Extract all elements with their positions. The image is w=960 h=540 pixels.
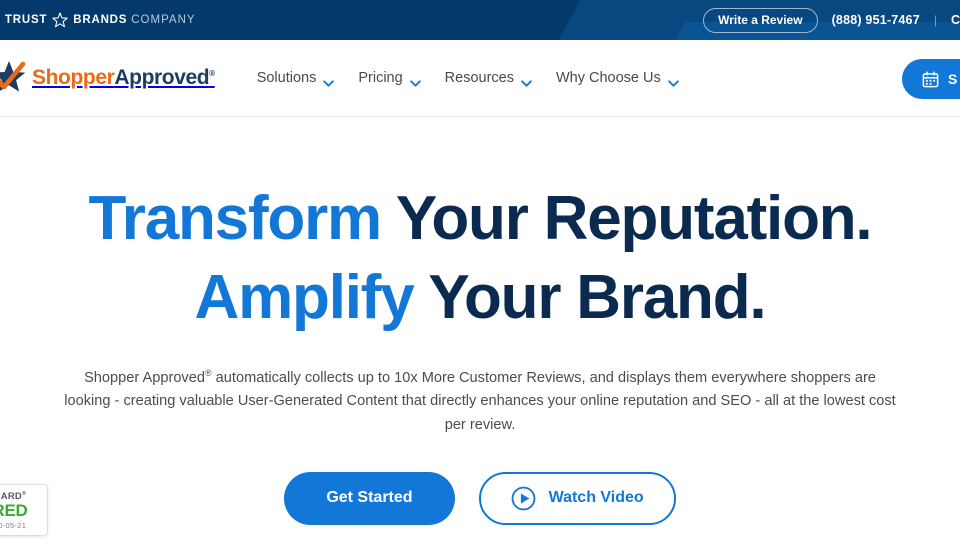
trustbrands-company: COMPANY: [131, 14, 195, 26]
topbar-clipped-item[interactable]: C: [951, 13, 960, 27]
nav-item-label: Pricing: [358, 70, 402, 86]
schedule-demo-label: S: [948, 71, 957, 87]
write-a-review-button[interactable]: Write a Review: [703, 8, 817, 33]
topbar-actions: Write a Review (888) 951-7467 | C: [703, 8, 960, 33]
star-icon: [52, 12, 68, 28]
site-logo[interactable]: ShopperApproved®: [0, 60, 215, 96]
nav-item-pricing[interactable]: Pricing: [358, 70, 420, 86]
logo-registered-mark: ®: [209, 69, 215, 78]
schedule-demo-button[interactable]: S: [902, 59, 960, 99]
trustbrands-a: A: [0, 14, 1, 26]
trustbrands-brands: BRANDS: [73, 14, 127, 26]
headline-line-2: Amplify Your Brand.: [0, 258, 960, 337]
trust-seal-main-text: RED: [0, 502, 28, 520]
logo-wordmark: ShopperApproved®: [32, 66, 215, 90]
nav-item-why-choose-us[interactable]: Why Choose Us: [556, 70, 679, 86]
play-circle-icon: [511, 486, 536, 511]
nav-item-label: Solutions: [257, 70, 317, 86]
hero-paragraph: Shopper Approved® automatically collects…: [62, 366, 898, 438]
calendar-icon: [922, 71, 939, 88]
registered-mark: ®: [205, 368, 212, 378]
top-utility-bar: A TRUST BRANDS COMPANY Write a Review (8…: [0, 0, 960, 40]
page-title: Transform Your Reputation. Amplify Your …: [0, 179, 960, 338]
chevron-down-icon: [410, 75, 421, 82]
topbar-divider: |: [934, 13, 937, 27]
logo-word-approved: Approved: [114, 66, 209, 89]
star-check-icon: [0, 60, 30, 96]
headline-accent-1: Transform: [89, 184, 381, 253]
hero-paragraph-part1: Shopper Approved: [84, 370, 205, 386]
primary-nav: Solutions Pricing Resources: [257, 70, 679, 86]
nav-item-solutions[interactable]: Solutions: [257, 70, 335, 86]
trust-seal-registered-mark: ®: [22, 491, 26, 497]
hero-cta-row: Get Started Watch Video: [0, 472, 960, 525]
hero-section: Transform Your Reputation. Amplify Your …: [0, 117, 960, 540]
nav-item-resources[interactable]: Resources: [445, 70, 532, 86]
get-started-button[interactable]: Get Started: [284, 472, 454, 525]
main-navigation-bar: ShopperApproved® Solutions Pricing: [0, 40, 960, 117]
chevron-down-icon: [668, 75, 679, 82]
headline-rest-2: Your Brand.: [414, 263, 766, 332]
headline-accent-2: Amplify: [195, 263, 414, 332]
nav-item-label: Why Choose Us: [556, 70, 661, 86]
trust-seal-badge[interactable]: UARD® RED 10-05-21: [0, 484, 48, 536]
trust-seal-word: UARD: [0, 491, 22, 502]
trust-brands-company-lockup: A TRUST BRANDS COMPANY: [0, 12, 196, 28]
headline-rest-1: Your Reputation.: [381, 184, 872, 253]
trust-seal-top-text: UARD®: [0, 491, 26, 502]
phone-link[interactable]: (888) 951-7467: [832, 13, 920, 27]
watch-video-button[interactable]: Watch Video: [479, 472, 676, 525]
watch-video-label: Watch Video: [549, 489, 644, 507]
page-root: A TRUST BRANDS COMPANY Write a Review (8…: [0, 0, 960, 540]
logo-word-shopper: Shopper: [32, 66, 114, 89]
trustbrands-trust: TRUST: [5, 14, 47, 26]
nav-item-label: Resources: [445, 70, 514, 86]
trust-seal-date: 10-05-21: [0, 521, 26, 530]
chevron-down-icon: [521, 75, 532, 82]
chevron-down-icon: [323, 75, 334, 82]
